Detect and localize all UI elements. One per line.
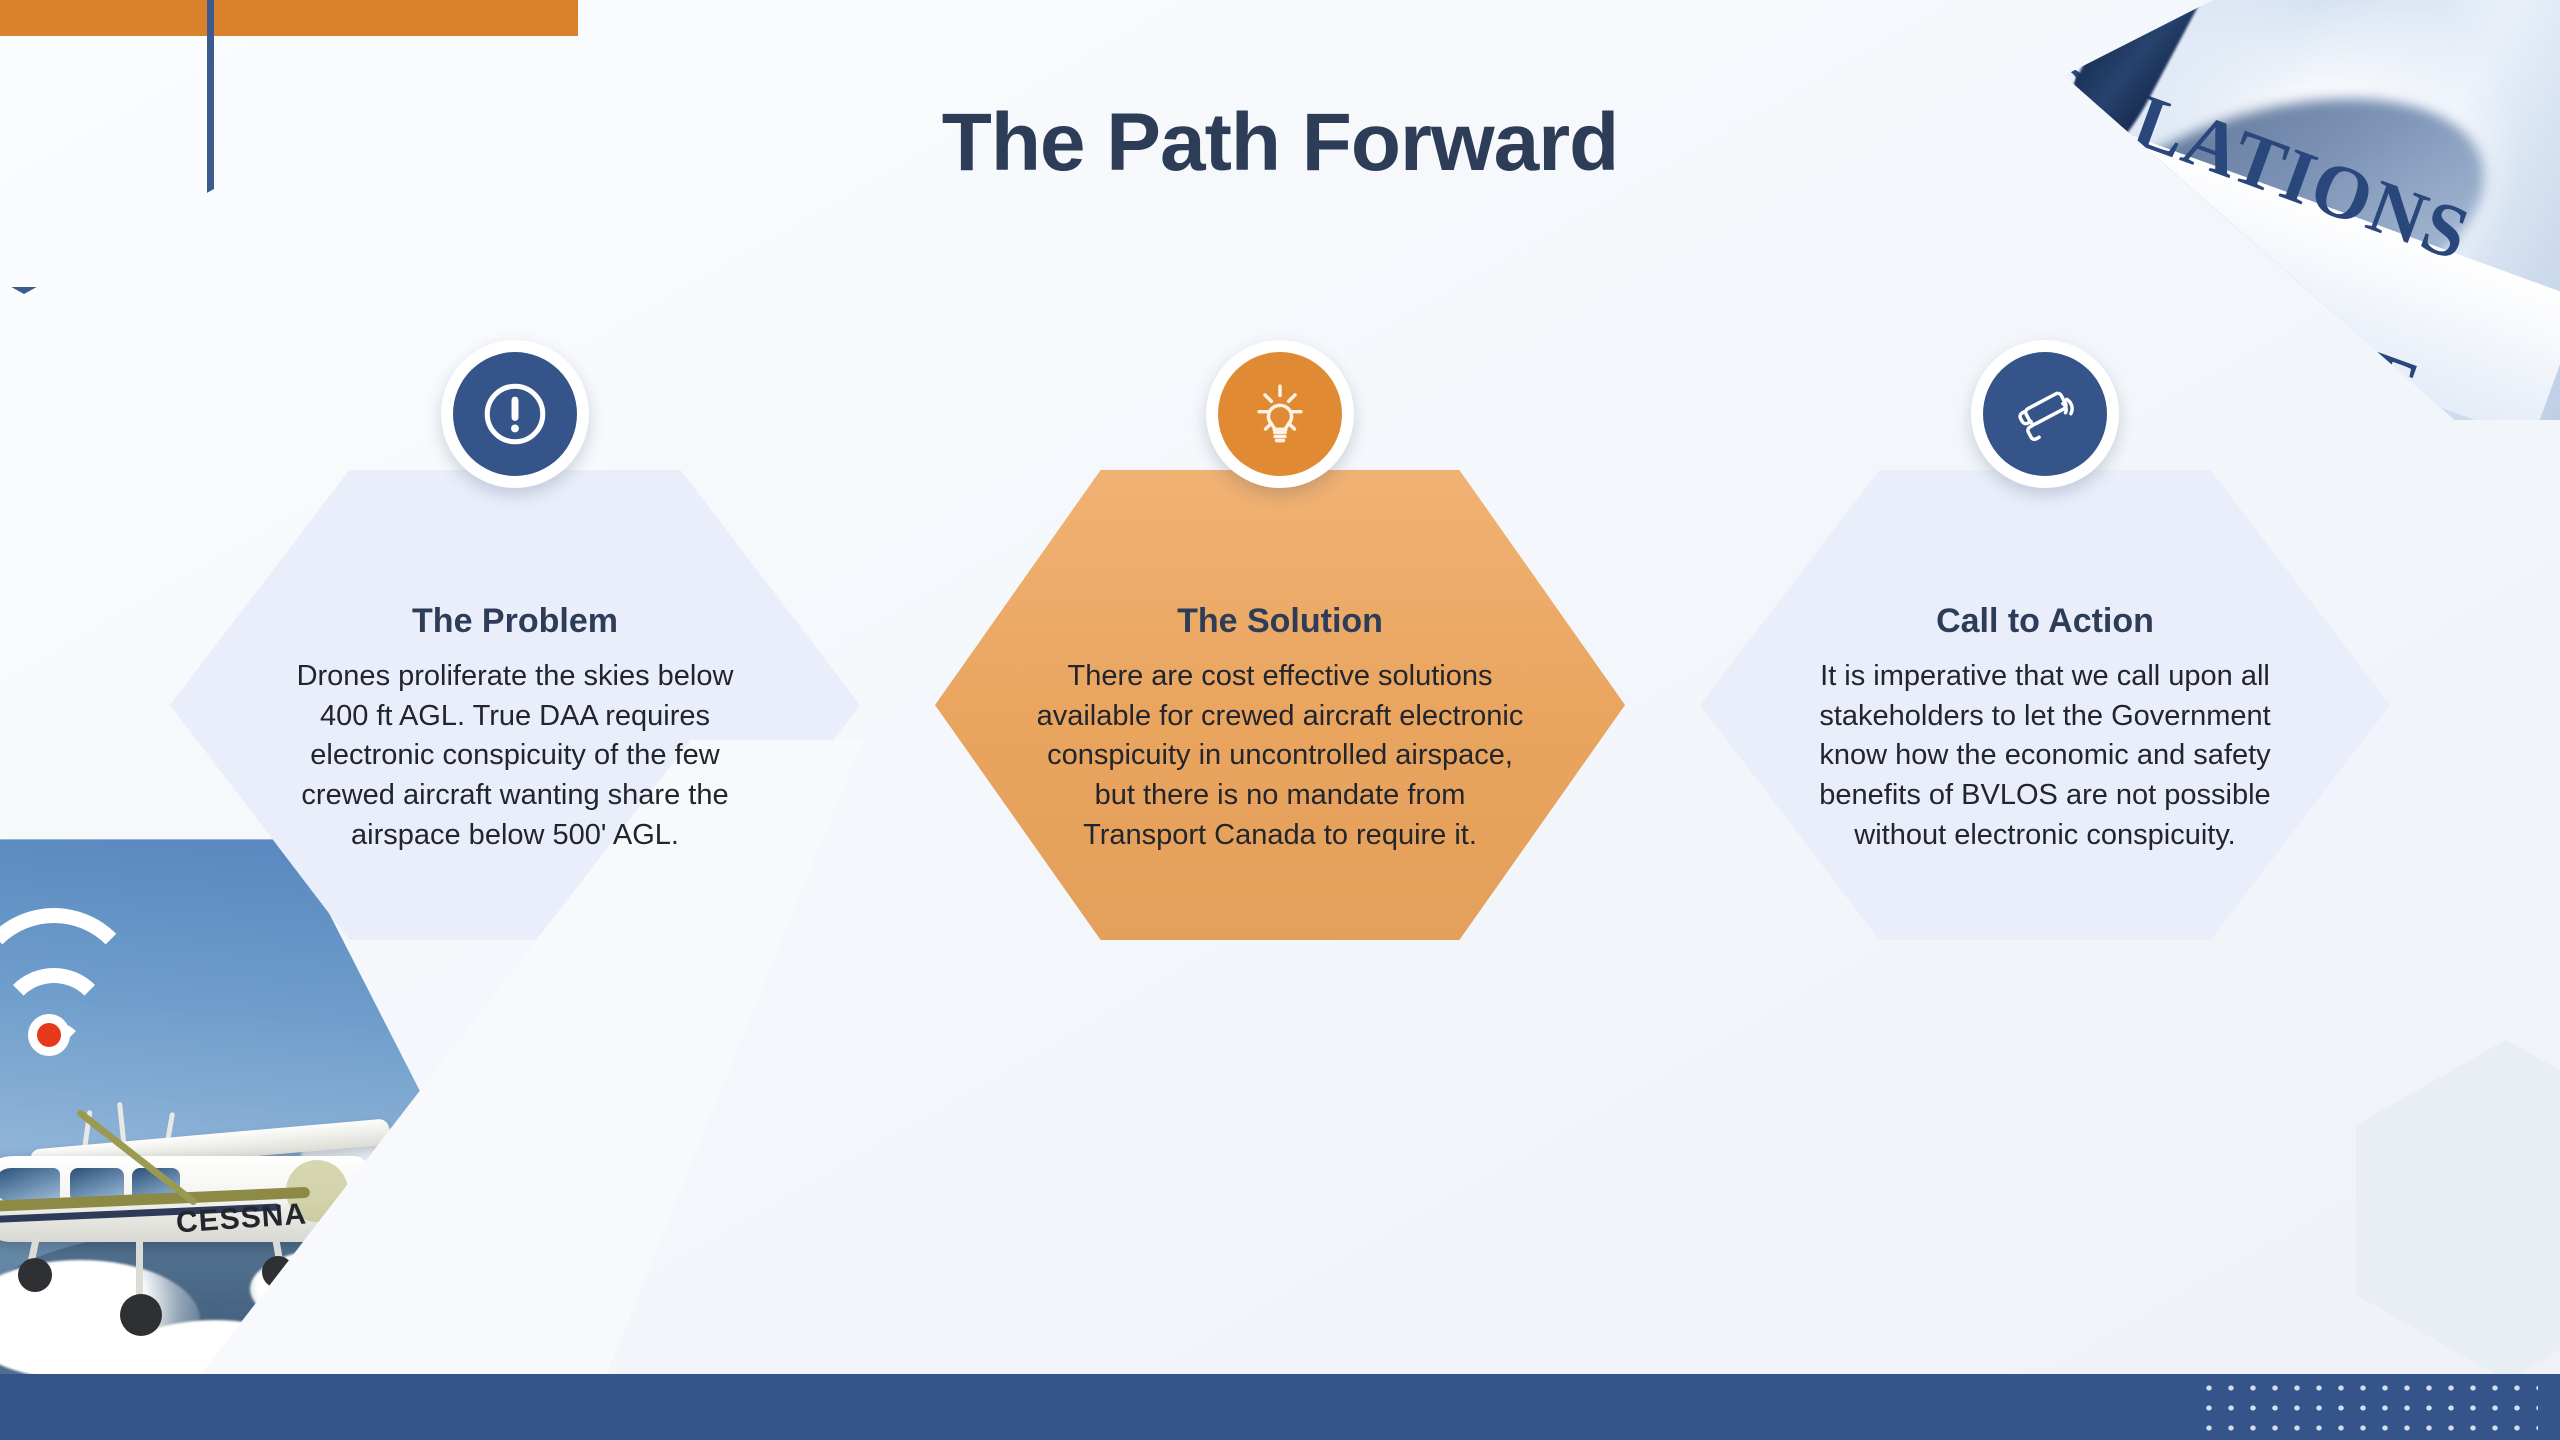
icon-badge (441, 340, 589, 488)
card-title: Call to Action (1810, 602, 2280, 641)
card-text: Drones proliferate the skies below 400 f… (280, 657, 750, 856)
card-body: Call to Action It is imperative that we … (1810, 602, 2280, 856)
icon-disc (453, 352, 577, 476)
card-call-to-action[interactable]: Call to Action It is imperative that we … (1700, 340, 2390, 940)
card-text: There are cost effective solutions avail… (1030, 657, 1530, 856)
lightbulb-icon (1243, 377, 1317, 451)
card-body: The Solution There are cost effective so… (1030, 602, 1530, 856)
footer-bar (0, 1374, 2560, 1440)
card-the-problem[interactable]: The Problem Drones proliferate the skies… (170, 340, 860, 940)
card-body: The Problem Drones proliferate the skies… (280, 602, 750, 856)
megaphone-icon (2008, 377, 2082, 451)
icon-badge (1971, 340, 2119, 488)
icon-disc (1983, 352, 2107, 476)
card-title: The Problem (280, 602, 750, 641)
card-title: The Solution (1030, 602, 1530, 641)
icon-badge (1206, 340, 1354, 488)
card-text: It is imperative that we call upon all s… (1810, 657, 2280, 856)
exclamation-circle-icon (478, 377, 552, 451)
card-row: The Problem Drones proliferate the skies… (0, 0, 2560, 1440)
card-the-solution[interactable]: The Solution There are cost effective so… (935, 340, 1625, 940)
dot-pattern-decoration (2198, 1378, 2538, 1434)
slide-canvas: REGULATIONS MPLIANCE (0, 0, 2560, 1440)
icon-disc (1218, 352, 1342, 476)
